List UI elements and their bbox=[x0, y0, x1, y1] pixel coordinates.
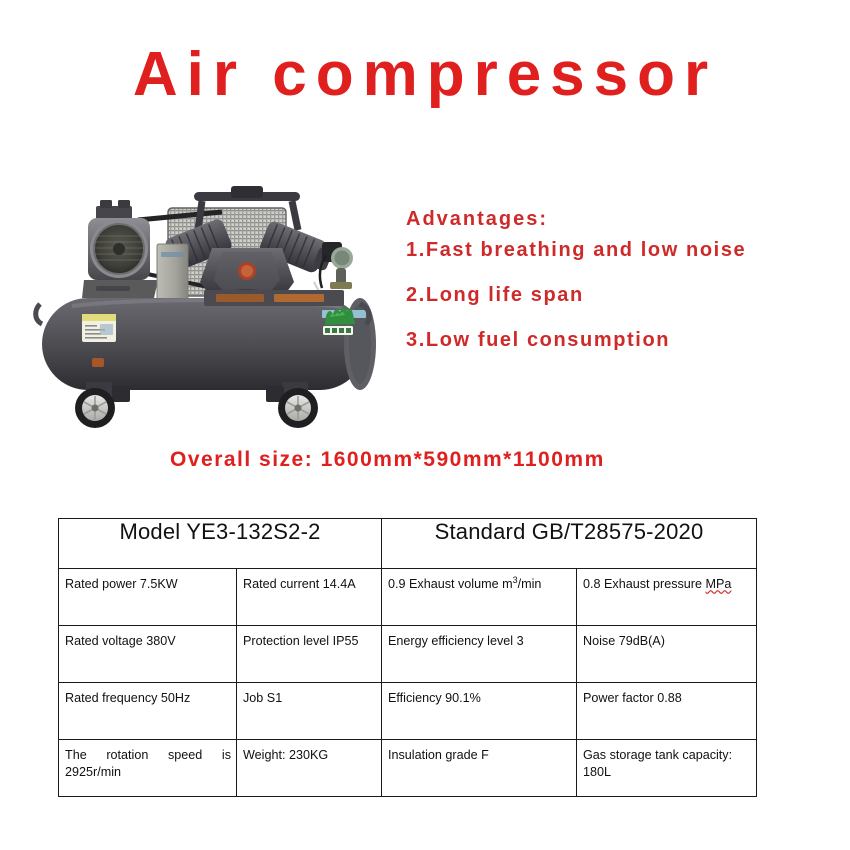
table-row: Rated voltage 380V Protection level IP55… bbox=[59, 626, 757, 683]
cell-rated-power: Rated power 7.5KW bbox=[59, 569, 237, 626]
cell-efficiency: Efficiency 90.1% bbox=[382, 683, 577, 740]
overall-size-text: Overall size: 1600mm*590mm*1100mm bbox=[170, 448, 605, 472]
table-header-row: Model YE3-132S2-2 Standard GB/T28575-202… bbox=[59, 519, 757, 569]
energy-efficiency-sticker-icon bbox=[82, 314, 116, 342]
cell-insulation-grade: Insulation grade F bbox=[382, 740, 577, 797]
cell-rated-current: Rated current 14.4A bbox=[237, 569, 382, 626]
product-image bbox=[26, 186, 398, 432]
table-row: Rated power 7.5KW Rated current 14.4A 0.… bbox=[59, 569, 757, 626]
cell-energy-efficiency: Energy efficiency level 3 bbox=[382, 626, 577, 683]
exhaust-pressure-pre: 0.8 Exhaust pressure bbox=[583, 577, 706, 591]
advantages-heading: Advantages: bbox=[406, 206, 836, 232]
header-standard: Standard GB/T28575-2020 bbox=[382, 519, 757, 569]
cell-protection-level: Protection level IP55 bbox=[237, 626, 382, 683]
advantage-item-1: 1.Fast breathing and low noise bbox=[406, 237, 836, 263]
exhaust-volume-pre: 0.9 Exhaust volume m bbox=[388, 577, 513, 591]
exhaust-pressure-unit: MPa bbox=[706, 577, 732, 591]
cell-exhaust-volume: 0.9 Exhaust volume m3/min bbox=[382, 569, 577, 626]
product-spec-page: Air compressor bbox=[0, 0, 850, 850]
cell-noise: Noise 79dB(A) bbox=[577, 626, 757, 683]
cell-tank-capacity: Gas storage tank capacity: 180L bbox=[577, 740, 757, 797]
cell-rotation-speed: The rotation speed is2925r/min bbox=[59, 740, 237, 797]
advantage-item-3: 3.Low fuel consumption bbox=[406, 327, 836, 353]
cell-weight: Weight: 230KG bbox=[237, 740, 382, 797]
header-model: Model YE3-132S2-2 bbox=[59, 519, 382, 569]
air-tank-icon bbox=[36, 290, 376, 390]
exhaust-volume-post: /min bbox=[518, 577, 542, 591]
table-row: The rotation speed is2925r/min Weight: 2… bbox=[59, 740, 757, 797]
table-row: Rated frequency 50Hz Job S1 Efficiency 9… bbox=[59, 683, 757, 740]
advantages-block: Advantages: 1.Fast breathing and low noi… bbox=[406, 206, 836, 353]
cell-rated-frequency: Rated frequency 50Hz bbox=[59, 683, 237, 740]
cell-power-factor: Power factor 0.88 bbox=[577, 683, 757, 740]
electric-motor-icon bbox=[82, 200, 158, 298]
cell-job: Job S1 bbox=[237, 683, 382, 740]
control-box-icon bbox=[157, 244, 188, 305]
advantage-item-2: 2.Long life span bbox=[406, 282, 836, 308]
page-title: Air compressor bbox=[0, 44, 850, 106]
specification-table: Model YE3-132S2-2 Standard GB/T28575-202… bbox=[58, 518, 757, 797]
rotation-speed-line1: The rotation speed is bbox=[65, 748, 231, 762]
cell-rated-voltage: Rated voltage 380V bbox=[59, 626, 237, 683]
rotation-speed-line2: 2925r/min bbox=[65, 764, 231, 781]
cell-exhaust-pressure: 0.8 Exhaust pressure MPa bbox=[577, 569, 757, 626]
